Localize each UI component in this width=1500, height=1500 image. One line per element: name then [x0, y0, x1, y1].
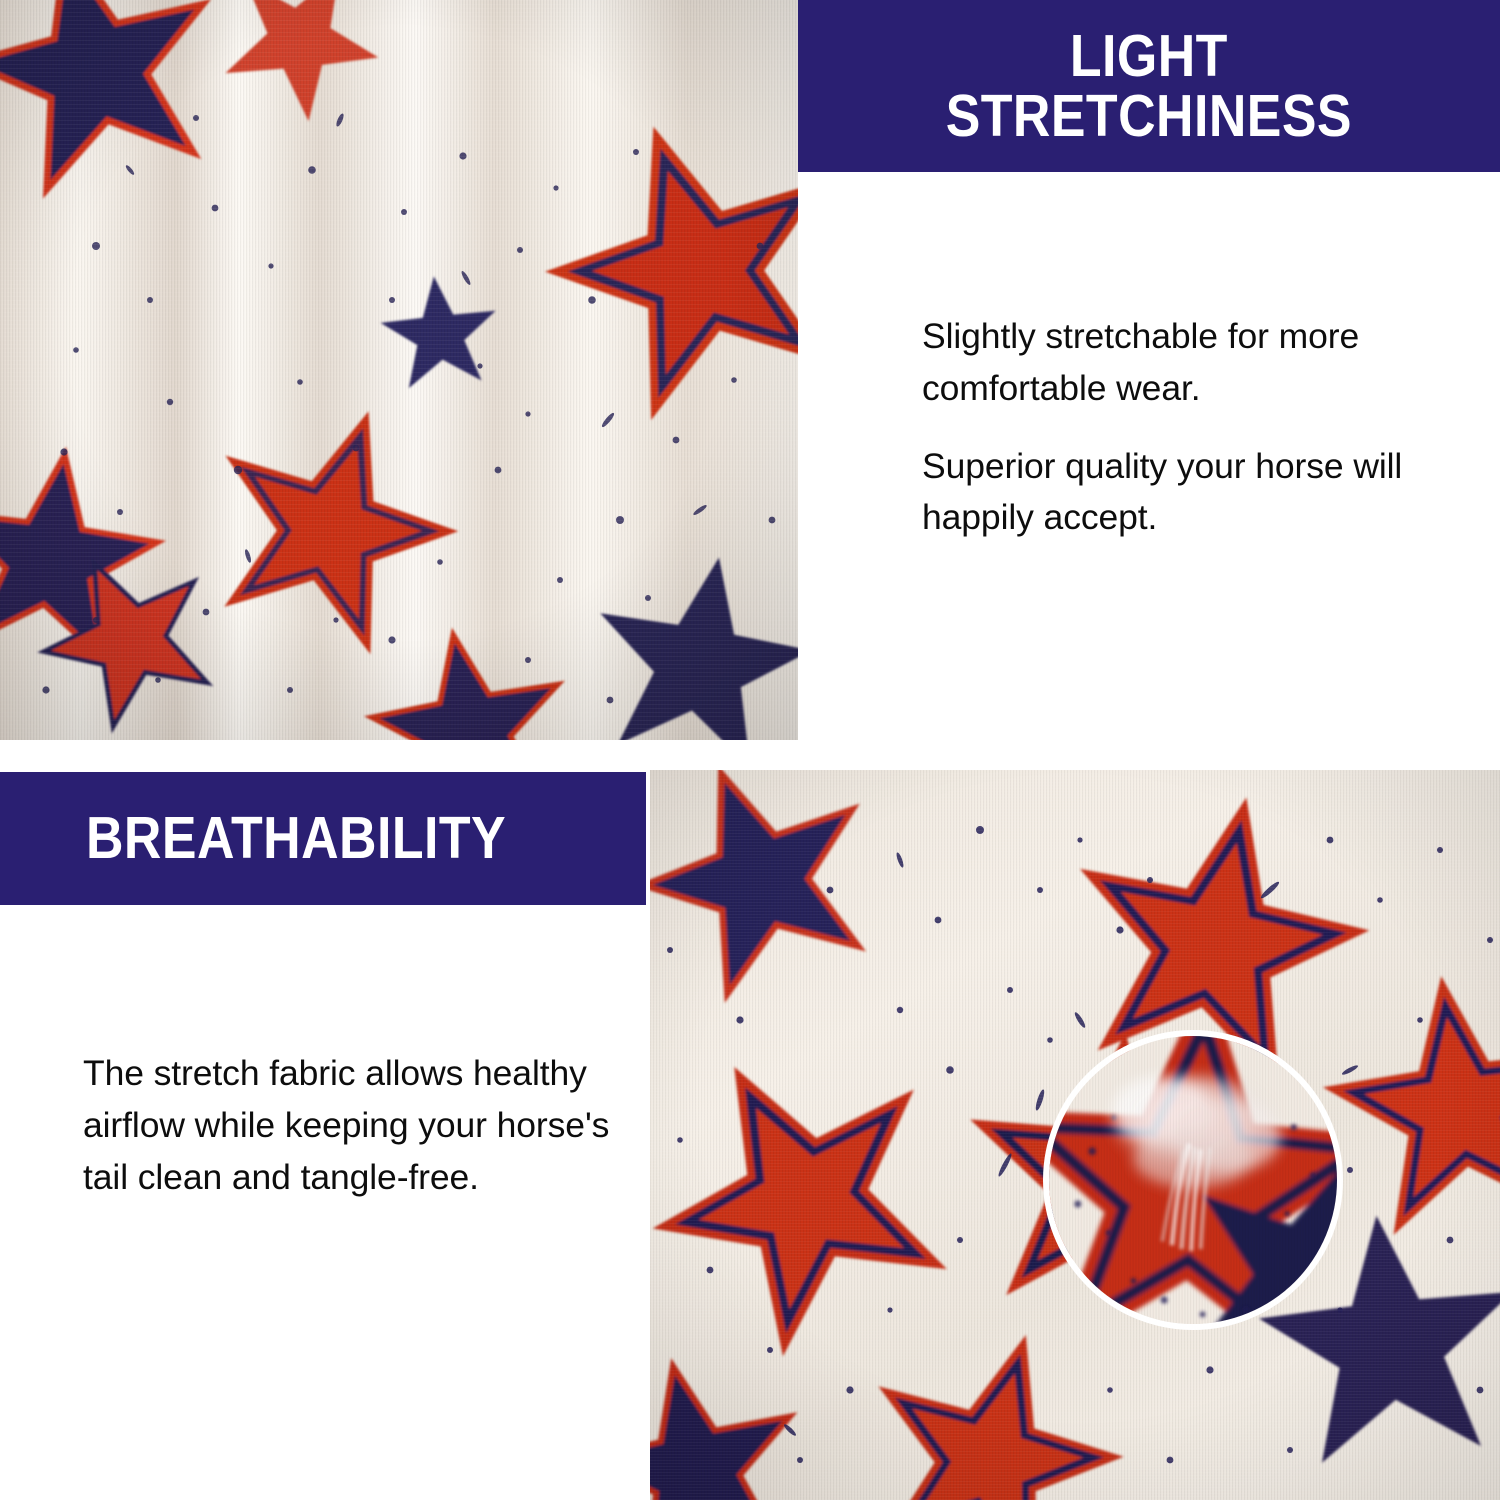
- banner-breathability-title: BREATHABILITY: [86, 808, 506, 868]
- banner-light-stretchiness-title: LIGHT STRETCHINESS: [946, 26, 1352, 146]
- copy-stretch-paragraph-2: Superior quality your horse will happily…: [922, 441, 1467, 545]
- banner-breathability: BREATHABILITY: [0, 772, 646, 905]
- airflow-circle-inset: [1043, 1030, 1343, 1330]
- fabric-closeup-draped-photo: [0, 0, 798, 740]
- copy-breath-paragraph-1: The stretch fabric allows healthy airflo…: [83, 1048, 613, 1203]
- copy-stretch-paragraph-1: Slightly stretchable for more comfortabl…: [922, 311, 1467, 415]
- copy-breathability: The stretch fabric allows healthy airflo…: [83, 1048, 613, 1203]
- infographic-stage: LIGHT STRETCHINESS Slightly stretchable …: [0, 0, 1500, 1500]
- banner-light-stretchiness: LIGHT STRETCHINESS: [798, 0, 1500, 172]
- copy-light-stretchiness: Slightly stretchable for more comfortabl…: [922, 311, 1467, 544]
